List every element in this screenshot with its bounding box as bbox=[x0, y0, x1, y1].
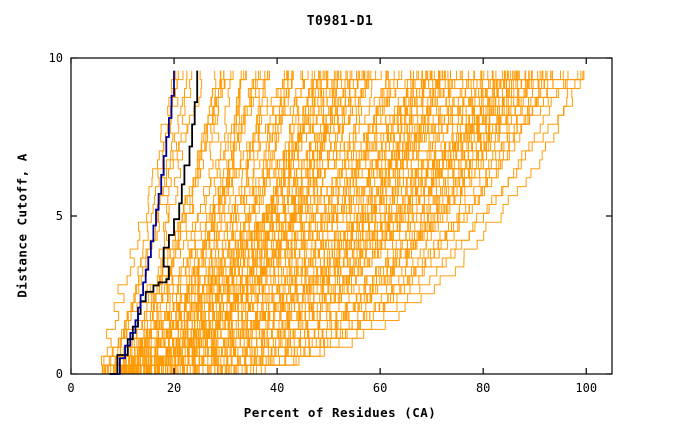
x-tick-label: 60 bbox=[373, 381, 387, 395]
y-tick-label: 5 bbox=[56, 209, 63, 223]
x-axis-label: Percent of Residues (CA) bbox=[0, 405, 680, 420]
x-tick-label: 20 bbox=[167, 381, 181, 395]
x-tick-label: 100 bbox=[575, 381, 597, 395]
y-axis-label-wrap: Distance Cutoff, A bbox=[0, 0, 30, 440]
x-tick-label: 40 bbox=[270, 381, 284, 395]
chart-container: T0981-D1 0204060801000510 Percent of Res… bbox=[0, 0, 680, 440]
x-tick-label: 80 bbox=[476, 381, 490, 395]
y-axis-label: Distance Cutoff, A bbox=[15, 116, 30, 336]
x-tick-label: 0 bbox=[67, 381, 74, 395]
plot-area: 0204060801000510 bbox=[0, 0, 680, 440]
y-tick-label: 0 bbox=[56, 367, 63, 381]
y-tick-label: 10 bbox=[49, 51, 63, 65]
model-curves-group bbox=[91, 71, 584, 374]
